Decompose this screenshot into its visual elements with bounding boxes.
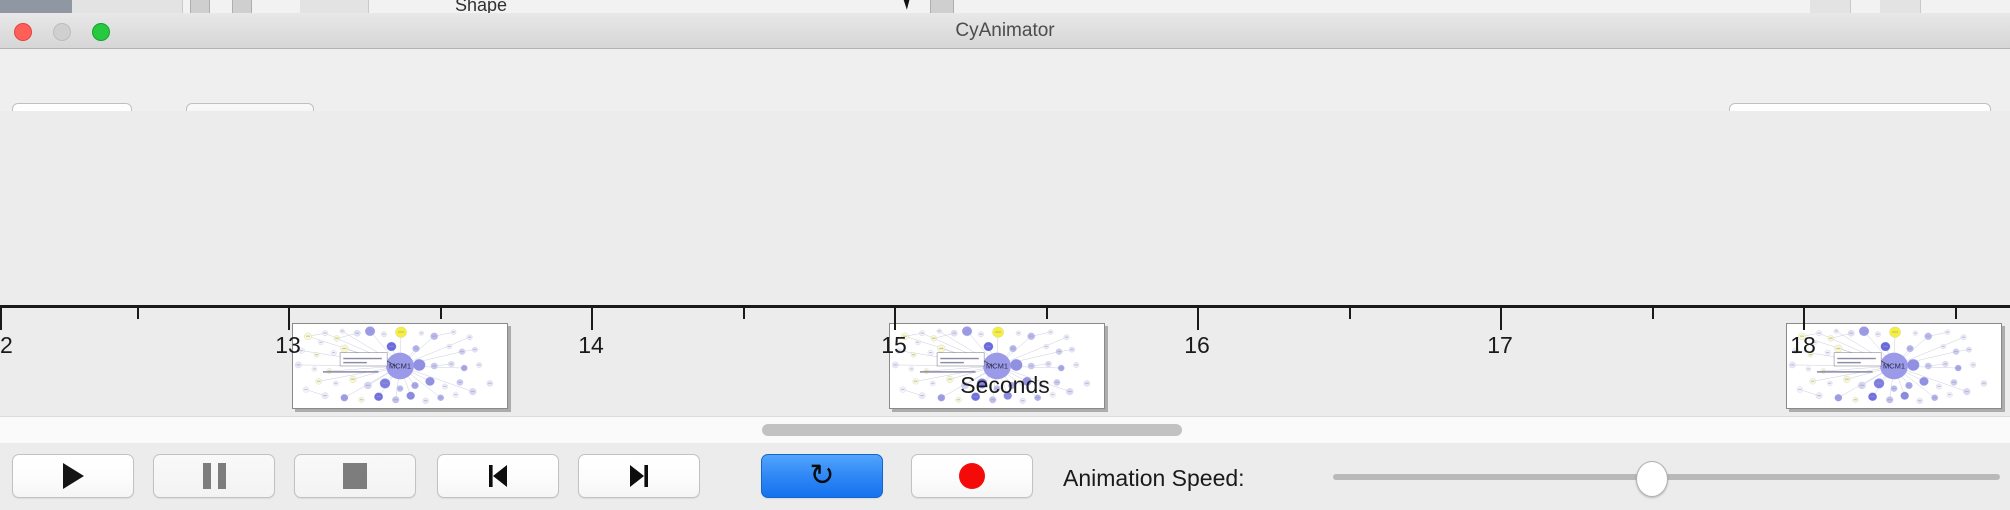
- background-window: Shape: [0, 0, 2010, 14]
- background-window-tab: [1880, 0, 1921, 13]
- loop-icon: ↻: [809, 461, 834, 491]
- axis-tick-label: 14: [578, 332, 604, 359]
- skip-back-icon: [484, 463, 512, 489]
- skip-forward-icon: [625, 463, 653, 489]
- axis-tick: [1803, 308, 1805, 330]
- axis-tick-label: 18: [1790, 332, 1816, 359]
- axis-tick-label: 17: [1487, 332, 1513, 359]
- window-title: CyAnimator: [0, 20, 2010, 42]
- axis-tick: [1046, 308, 1048, 319]
- svg-text:MCM1: MCM1: [1883, 362, 1905, 371]
- background-window-dark-region: [0, 0, 72, 13]
- background-window-block: [232, 0, 252, 13]
- background-window-tab: [1810, 0, 1851, 13]
- axis-tick: [591, 308, 593, 330]
- play-icon: [63, 463, 84, 489]
- axis-tick: [1197, 308, 1199, 330]
- axis-tick-label: 15: [881, 332, 907, 359]
- stop-button[interactable]: [294, 454, 416, 498]
- axis-tick-label: 13: [275, 332, 301, 359]
- axis-tick: [288, 308, 290, 330]
- animation-speed-slider-thumb[interactable]: [1636, 461, 1668, 497]
- background-window-label: Shape: [455, 0, 507, 14]
- background-window-block: [930, 0, 954, 13]
- svg-text:MCM1: MCM1: [389, 362, 411, 371]
- first-frame-button[interactable]: [437, 454, 559, 498]
- record-icon: [959, 463, 985, 489]
- background-window-tab: [72, 0, 137, 13]
- horizontal-scrollbar[interactable]: [0, 416, 2010, 444]
- svg-text:MCM1: MCM1: [986, 362, 1008, 371]
- axis-tick: [743, 308, 745, 319]
- record-button[interactable]: [911, 454, 1033, 498]
- toolbar: Clear All Frames: [0, 49, 2010, 112]
- playback-controls: ↻ Animation Speed:: [0, 443, 2010, 510]
- axis-title: Seconds: [0, 372, 2010, 399]
- timeline-panel[interactable]: MCM1MCM1MCM1: [0, 111, 2010, 416]
- last-frame-button[interactable]: [578, 454, 700, 498]
- loop-button[interactable]: ↻: [761, 454, 883, 498]
- cyanimator-window: Shape CyAnimator Clear All Frames: [0, 0, 2010, 510]
- background-window-tab: [300, 0, 369, 13]
- axis-tick: [1652, 308, 1654, 319]
- axis-tick: [1955, 308, 1957, 319]
- animation-speed-label: Animation Speed:: [1063, 465, 1245, 492]
- pause-button[interactable]: [153, 454, 275, 498]
- timeline-axis: [0, 305, 2010, 308]
- axis-tick: [440, 308, 442, 319]
- axis-tick: [1349, 308, 1351, 319]
- stop-icon: [343, 463, 367, 489]
- axis-tick-label: 16: [1184, 332, 1210, 359]
- axis-tick-label: 12: [0, 332, 13, 359]
- axis-tick: [894, 308, 896, 330]
- cursor-icon: [903, 0, 913, 10]
- scrollbar-thumb[interactable]: [762, 424, 1182, 436]
- axis-tick: [137, 308, 139, 319]
- background-window-block: [190, 0, 210, 13]
- axis-tick: [1500, 308, 1502, 330]
- play-button[interactable]: [12, 454, 134, 498]
- axis-tick: [0, 308, 2, 330]
- background-window-tab: [136, 0, 183, 13]
- pause-icon: [203, 463, 226, 489]
- title-bar[interactable]: CyAnimator: [0, 13, 2010, 49]
